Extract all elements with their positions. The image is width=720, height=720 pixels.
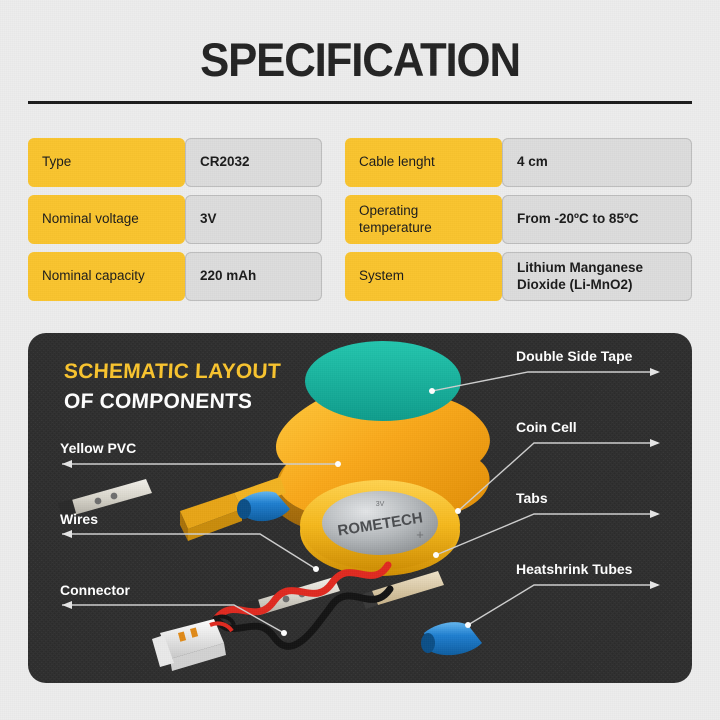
schematic-heading-line1: SCHEMATIC LAYOUT [63, 360, 281, 384]
callout-connector: Connector [60, 582, 130, 598]
callout-double-side-tape: Double Side Tape [516, 348, 632, 364]
schematic-panel: SCHEMATIC LAYOUT OF COMPONENTS [28, 333, 692, 683]
spec-value-nominal-voltage: 3V [185, 195, 322, 244]
spec-value-nominal-capacity: 220 mAh [185, 252, 322, 301]
title-divider [28, 101, 692, 104]
spec-label-operating-temperature: Operating temperature [345, 195, 502, 244]
spec-value-system: Lithium Manganese Dioxide (Li-MnO2) [502, 252, 692, 301]
spec-label-cable-lenght: Cable lenght [345, 138, 502, 187]
spec-label-nominal-capacity: Nominal capacity [28, 252, 185, 301]
callout-wires: Wires [60, 511, 98, 527]
schematic-heading-line2: OF COMPONENTS [63, 390, 281, 414]
spec-label-system: System [345, 252, 502, 301]
callout-heatshrink-tubes: Heatshrink Tubes [516, 561, 632, 577]
callout-coin-cell: Coin Cell [516, 419, 577, 435]
callout-yellow-pvc: Yellow PVC [60, 440, 136, 456]
callout-tabs: Tabs [516, 490, 548, 506]
specification-table: Type CR2032 Cable lenght 4 cm Nominal vo… [28, 138, 692, 301]
schematic-heading: SCHEMATIC LAYOUT OF COMPONENTS [64, 360, 281, 414]
spec-value-operating-temperature: From -20ºC to 85ºC [502, 195, 692, 244]
spec-label-type: Type [28, 138, 185, 187]
spec-value-type: CR2032 [185, 138, 322, 187]
spec-label-nominal-voltage: Nominal voltage [28, 195, 185, 244]
page-title: SPECIFICATION [25, 32, 695, 87]
spec-value-cable-lenght: 4 cm [502, 138, 692, 187]
